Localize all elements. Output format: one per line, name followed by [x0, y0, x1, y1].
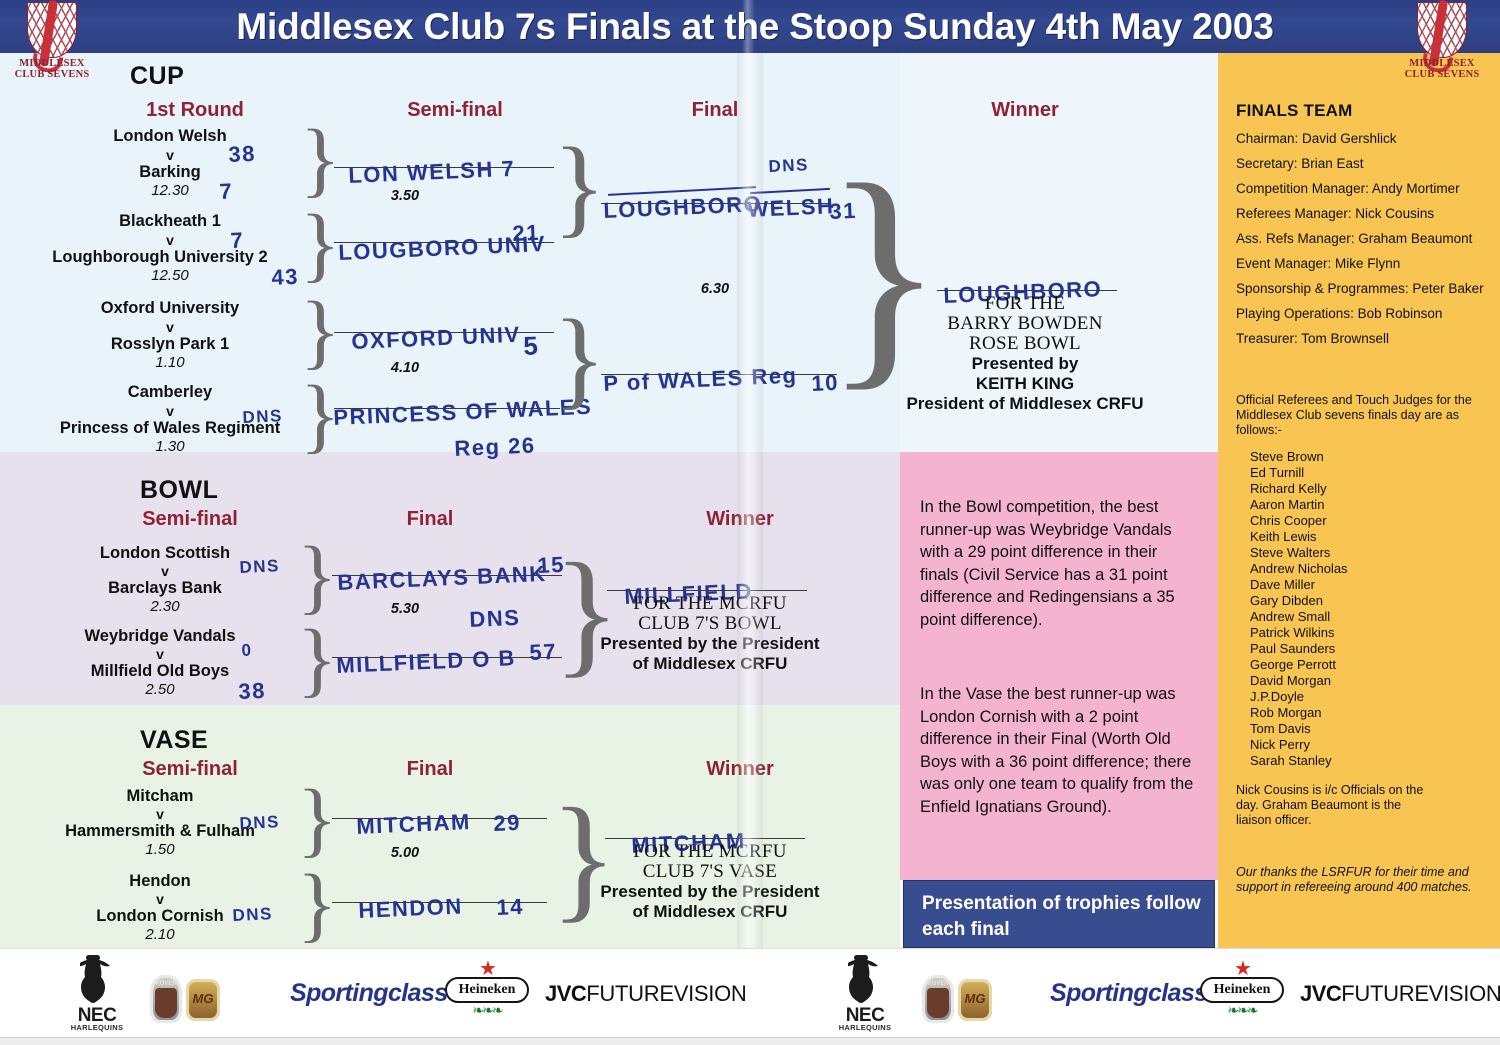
cup-r1-m3-v: v	[35, 319, 305, 335]
harlequins-label-right: HARLEQUINS	[832, 1023, 898, 1032]
cup-sf2-bottom-entry-2: Reg 26	[454, 432, 536, 462]
cup-r1-m3-time: 1.10	[35, 354, 305, 371]
referee-name: Rob Morgan	[1250, 705, 1322, 720]
cup-r1-m2-team-b: Loughborough University 2	[15, 248, 305, 267]
finals-team-member: Sponsorship & Programmes: Peter Baker	[1236, 281, 1484, 296]
cup-r1-m2-score-b: 43	[271, 264, 300, 291]
jvc-label: JVC	[545, 981, 586, 1006]
bowl-sf2-score-a: 0	[241, 641, 253, 661]
page-title: Middlesex Club 7s Finals at the Stoop Su…	[130, 3, 1380, 51]
cup-r1-m1-brace: }	[300, 118, 340, 202]
bowl-trophy-line3: Presented by the President	[580, 634, 840, 654]
programme-page: Middlesex Club 7s Finals at the Stoop Su…	[0, 0, 1500, 1045]
cup-r1-m4-team-a: Camberley	[35, 383, 305, 402]
cup-sf1-score: 21	[512, 220, 541, 247]
bowl-sf2-score-b: 38	[238, 678, 267, 705]
cup-r1-m1-v: v	[35, 147, 305, 163]
vase-final-bottom-entry: HENDON	[358, 893, 463, 924]
finals-team-member: Chairman: David Gershlick	[1236, 131, 1397, 146]
bowl-sf2-brace: }	[297, 618, 337, 702]
cup-r1-m2-time: 12.50	[35, 267, 305, 284]
cup-r1-m4-dns-note: DNS	[242, 406, 283, 428]
cup-section-title: CUP	[130, 62, 184, 91]
referee-name: Sarah Stanley	[1250, 753, 1332, 768]
referee-name: Richard Kelly	[1250, 481, 1327, 496]
middlesex-club-sevens-crest-icon: MIDDLESEX CLUB SEVENS	[14, 2, 90, 82]
finals-team-member: Playing Operations: Bob Robinson	[1236, 306, 1442, 321]
referee-name: Keith Lewis	[1250, 529, 1316, 544]
cup-trophy-line5: KEITH KING	[890, 374, 1160, 394]
finals-team-member: Ass. Refs Manager: Graham Beaumont	[1236, 231, 1472, 246]
officials-note: Nick Cousins is i/c Officials on the day…	[1236, 783, 1426, 828]
referee-name: J.P.Doyle	[1250, 689, 1304, 704]
vase-runner-up-note: In the Vase the best runner-up was Londo…	[920, 683, 1200, 818]
rover-mg-logo-icon	[150, 957, 230, 1037]
cup-final-top-overwrite: WELSH	[747, 193, 835, 223]
vase-trophy-line4: of Middlesex CRFU	[580, 902, 840, 922]
referee-name: Nick Perry	[1250, 737, 1310, 752]
vase-final-bottom-score: 14	[496, 894, 525, 921]
bowl-sf1-dns-note: DNS	[239, 556, 280, 578]
jvc-futurevision-logo-icon-right: JVCFUTUREVISION	[1300, 981, 1500, 1007]
bowl-sf2-team-a: Weybridge Vandals	[25, 627, 295, 646]
jvc-futurevision-logo-icon: JVCFUTUREVISION	[545, 981, 746, 1007]
vase-sf2-dns-note: DNS	[232, 904, 273, 926]
cup-sf2-brace: }	[553, 303, 606, 413]
cup-r1-m2-team-a: Blackheath 1	[35, 212, 305, 231]
finals-team-member: Treasurer: Tom Brownsell	[1236, 331, 1389, 346]
heineken-logo-icon: ★ Heineken ❧❧❧	[445, 955, 535, 1035]
cup-trophy-line3: ROSE BOWL	[890, 334, 1160, 354]
sportingclass-logo-icon-right: Sportingclass	[1050, 979, 1208, 1008]
cup-r1-m1-score-b: 7	[219, 178, 234, 205]
finals-team-member: Competition Manager: Andy Mortimer	[1236, 181, 1460, 196]
vase-column-semi: Semi-final	[55, 758, 325, 781]
nec-harlequins-logo-icon: NEC HARLEQUINS	[60, 957, 134, 1041]
cup-sf1-time: 3.50	[340, 188, 470, 204]
futurevision-label-right: FUTUREVISION	[1341, 981, 1500, 1006]
crest-line-1: MIDDLESEX	[14, 58, 90, 69]
cup-r1-m1-score-a: 38	[228, 141, 257, 168]
referee-name: Dave Miller	[1250, 577, 1315, 592]
bowl-sf2-v: v	[25, 646, 295, 662]
bowl-column-winner: Winner	[590, 508, 890, 531]
nec-harlequins-logo-icon-right: NEC HARLEQUINS	[828, 957, 902, 1041]
referee-name: Paul Saunders	[1250, 641, 1335, 656]
sponsor-logos-left: NEC HARLEQUINS Sportingclass ★ Heineken …	[40, 949, 740, 1045]
middlesex-club-sevens-crest-icon-right: MIDDLESEX CLUB SEVENS	[1404, 2, 1480, 82]
thanks-note: Our thanks the LSRFUR for their time and…	[1236, 865, 1476, 895]
futurevision-label: FUTUREVISION	[586, 981, 746, 1006]
harlequins-label: HARLEQUINS	[64, 1023, 130, 1032]
finals-team-heading: FINALS TEAM	[1236, 101, 1352, 121]
bowl-final-dns-note: DNS	[469, 605, 521, 633]
heineken-logo-icon-right: ★ Heineken ❧❧❧	[1200, 955, 1290, 1035]
cup-trophy-line6: President of Middlesex CRFU	[890, 394, 1160, 414]
presentation-notice-box: Presentation of trophies follow each fin…	[903, 880, 1215, 948]
crest-line-1-right: MIDDLESEX	[1404, 58, 1480, 69]
finals-team-member: Secretary: Brian East	[1236, 156, 1364, 171]
vase-column-final: Final	[330, 758, 530, 781]
vase-sf2-team-a: Hendon	[25, 872, 295, 891]
bowl-trophy-line2: CLUB 7'S BOWL	[580, 614, 840, 634]
bowl-trophy-line1: FOR THE MCRFU	[580, 594, 840, 614]
vase-sf2-time: 2.10	[25, 926, 295, 943]
referee-name: Ed Turnill	[1250, 465, 1304, 480]
footer-bottom-edge	[0, 1037, 1500, 1045]
referee-name: David Morgan	[1250, 673, 1331, 688]
referee-name: Steve Walters	[1250, 545, 1330, 560]
vase-final-time: 5.00	[340, 845, 470, 861]
cup-final-time: 6.30	[650, 281, 780, 297]
referee-name: George Perrott	[1250, 657, 1336, 672]
cup-trophy-line4: Presented by	[890, 354, 1160, 374]
cup-trophy-line1: FOR THE	[890, 294, 1160, 314]
cup-r1-m4-time: 1.30	[35, 438, 305, 455]
bowl-sf1-time: 2.30	[30, 598, 300, 615]
vase-section-title: VASE	[140, 726, 208, 755]
referee-name: Andrew Small	[1250, 609, 1330, 624]
referee-name: Aaron Martin	[1250, 497, 1324, 512]
finals-team-member: Referees Manager: Nick Cousins	[1236, 206, 1434, 221]
cup-column-semi: Semi-final	[320, 99, 590, 122]
cup-column-winner: Winner	[890, 99, 1160, 122]
cup-r1-m3-team-b: Rosslyn Park 1	[35, 335, 305, 354]
bowl-sf1-team-b: Barclays Bank	[30, 579, 300, 598]
bowl-section-title: BOWL	[140, 476, 218, 505]
crest-line-2: CLUB SEVENS	[14, 69, 90, 80]
cup-r1-m1-time: 12.30	[35, 182, 305, 199]
vase-trophy-line1: FOR THE MCRFU	[580, 842, 840, 862]
bowl-sf1-brace: }	[297, 535, 337, 619]
vase-sf1-team-a: Mitcham	[25, 787, 295, 806]
rover-mg-logo-icon-right	[922, 957, 1002, 1037]
sportingclass-logo-icon: Sportingclass	[290, 979, 448, 1008]
vase-trophy-line2: CLUB 7'S VASE	[580, 862, 840, 882]
referee-name: Gary Dibden	[1250, 593, 1323, 608]
bowl-column-semi: Semi-final	[55, 508, 325, 531]
cup-r1-m3-team-a: Oxford University	[35, 299, 305, 318]
vase-sf1-dns-note: DNS	[239, 812, 280, 834]
referee-name: Tom Davis	[1250, 721, 1311, 736]
jvc-label-right: JVC	[1300, 981, 1341, 1006]
vase-column-winner: Winner	[590, 758, 890, 781]
vase-final-top-score: 29	[493, 810, 522, 837]
sponsor-footer: NEC HARLEQUINS Sportingclass ★ Heineken …	[0, 948, 1500, 1045]
cup-sf1-brace: }	[553, 131, 606, 241]
bowl-trophy-line4: of Middlesex CRFU	[580, 654, 840, 674]
cup-r1-m2-v: v	[35, 232, 305, 248]
bowl-column-final: Final	[330, 508, 530, 531]
referee-name: Chris Cooper	[1250, 513, 1327, 528]
cup-final-dns-note: DNS	[768, 155, 809, 177]
sponsor-logos-right: NEC HARLEQUINS Sportingclass ★ Heineken …	[810, 949, 1500, 1045]
cup-trophy-line2: BARRY BOWDEN	[890, 314, 1160, 334]
bowl-final-time: 5.30	[340, 601, 470, 617]
cup-r1-m1-team-a: London Welsh	[35, 127, 305, 146]
cup-r1-m2-brace: }	[300, 203, 340, 287]
cup-r1-m1-team-b: Barking	[35, 163, 305, 182]
cup-sf2-top-score: 5	[523, 330, 540, 362]
cup-trophy-details: FOR THE BARRY BOWDEN ROSE BOWL Presented…	[890, 294, 1160, 414]
crest-line-2-right: CLUB SEVENS	[1404, 69, 1480, 80]
bowl-trophy-details: FOR THE MCRFU CLUB 7'S BOWL Presented by…	[580, 594, 840, 674]
bowl-runner-up-note: In the Bowl competition, the best runner…	[920, 496, 1200, 631]
cup-column-final: Final	[600, 99, 830, 122]
vase-trophy-line3: Presented by the President	[580, 882, 840, 902]
cup-column-round1: 1st Round	[60, 99, 330, 122]
presentation-notice-text: Presentation of trophies follow each fin…	[922, 891, 1202, 943]
vase-final-top-entry: MITCHAM	[356, 809, 471, 840]
referee-name: Steve Brown	[1250, 449, 1324, 464]
vase-sf1-time: 1.50	[25, 841, 295, 858]
vase-sf2-brace: }	[297, 863, 337, 947]
vase-trophy-details: FOR THE MCRFU CLUB 7'S VASE Presented by…	[580, 842, 840, 922]
vase-sf1-brace: }	[297, 778, 337, 862]
cup-sf2-time: 4.10	[340, 360, 470, 376]
cup-r1-m2-score-a: 7	[230, 227, 245, 254]
referee-name: Patrick Wilkins	[1250, 625, 1335, 640]
finals-team-member: Event Manager: Mike Flynn	[1236, 256, 1400, 271]
referee-name: Andrew Nicholas	[1250, 561, 1348, 576]
referees-intro: Official Referees and Touch Judges for t…	[1236, 393, 1486, 438]
